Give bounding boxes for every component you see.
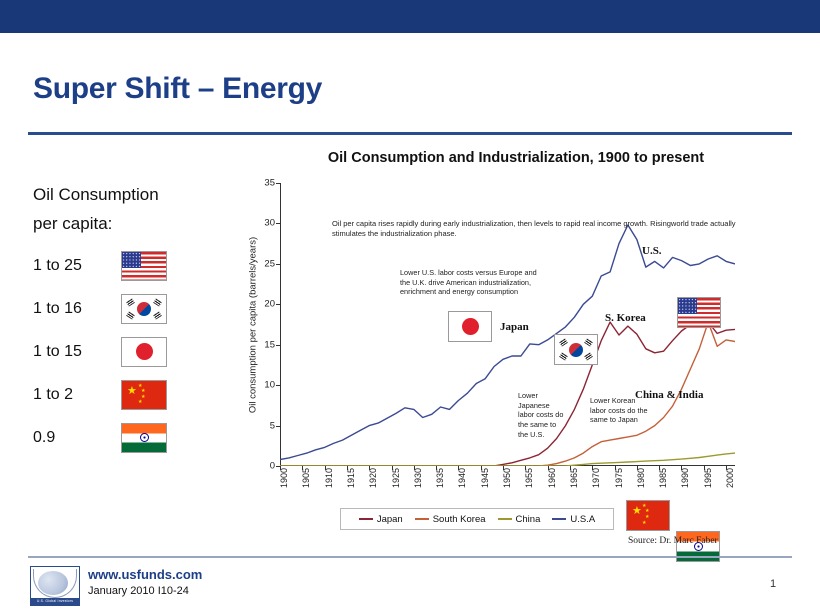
x-tick-mark [681, 466, 682, 470]
x-tick-mark [704, 466, 705, 470]
chart-legend: Japan South Korea China U.S.A [340, 508, 614, 530]
x-tick-label: 1995 [703, 468, 713, 488]
y-tick-label: 0 [270, 461, 275, 472]
x-tick-mark [302, 466, 303, 470]
legend-swatch-usa [552, 518, 566, 521]
callout-label-skorea: S. Korea [605, 312, 646, 324]
india-flag-icon [121, 423, 167, 453]
skorea-callout-flag-icon [554, 334, 598, 365]
x-tick-mark [637, 466, 638, 470]
us-flag-icon [121, 251, 167, 281]
annotation-intro: Oil per capita rises rapidly during earl… [332, 219, 752, 239]
y-tick-label: 35 [264, 178, 275, 189]
list-heading-line1: Oil Consumption [33, 180, 223, 209]
x-tick-label: 1985 [658, 468, 668, 488]
x-tick-mark [570, 466, 571, 470]
ratio-value-china: 1 to 2 [33, 386, 121, 404]
footer-website-link[interactable]: www.usfunds.com [88, 567, 202, 582]
chart-title: Oil Consumption and Industrialization, 1… [236, 150, 796, 166]
page-title: Super Shift – Energy [33, 72, 322, 106]
x-tick-mark [525, 466, 526, 470]
y-tick-label: 30 [264, 218, 275, 229]
x-tick-mark [392, 466, 393, 470]
list-item: 1 to 25 [33, 244, 223, 287]
china-callout-flag-icon: ★ ★ ★ ★ ★ [626, 500, 670, 531]
legend-item-usa[interactable]: U.S.A [552, 514, 595, 525]
top-band [0, 0, 820, 33]
y-tick-label: 10 [264, 380, 275, 391]
us-callout-flag-icon [677, 297, 721, 328]
legend-label-china: China [516, 514, 541, 525]
x-tick-label: 1905 [301, 468, 311, 488]
y-axis-label: Oil consumption per capita (barrels/year… [246, 183, 260, 466]
x-tick-label: 1955 [524, 468, 534, 488]
callout-label-china-india: China & India [635, 389, 703, 401]
china-flag-icon: ★ ★ ★ ★ ★ [121, 380, 167, 410]
x-tick-label: 1970 [591, 468, 601, 488]
series-line-u-s-a [280, 225, 735, 460]
list-item: 1 to 2 ★ ★ ★ ★ ★ [33, 373, 223, 416]
x-tick-mark [481, 466, 482, 470]
y-tick-label: 5 [270, 420, 275, 431]
south-korea-flag-icon [121, 294, 167, 324]
x-tick-label: 1940 [457, 468, 467, 488]
x-tick-label: 1925 [391, 468, 401, 488]
x-tick-label: 1900 [279, 468, 289, 488]
x-tick-mark [615, 466, 616, 470]
list-item: 1 to 16 [33, 287, 223, 330]
japan-callout-flag-icon [448, 311, 492, 342]
x-tick-label: 1975 [614, 468, 624, 488]
x-tick-label: 1920 [368, 468, 378, 488]
x-tick-label: 2000 [725, 468, 735, 488]
ratio-value-us: 1 to 25 [33, 257, 121, 275]
x-tick-mark [458, 466, 459, 470]
x-tick-mark [726, 466, 727, 470]
ratio-value-south-korea: 1 to 16 [33, 300, 121, 318]
x-tick-label: 1960 [547, 468, 557, 488]
legend-label-south-korea: South Korea [433, 514, 486, 525]
callout-label-japan: Japan [500, 321, 529, 333]
x-tick-label: 1980 [636, 468, 646, 488]
x-tick-label: 1965 [569, 468, 579, 488]
x-tick-label: 1935 [435, 468, 445, 488]
x-tick-label: 1990 [680, 468, 690, 488]
slide-canvas: Super Shift – Energy Oil Consumption per… [0, 0, 820, 615]
legend-swatch-japan [359, 518, 373, 521]
page-number: 1 [770, 578, 776, 590]
x-tick-mark [592, 466, 593, 470]
x-tick-label: 1945 [480, 468, 490, 488]
list-item: 1 to 15 [33, 330, 223, 373]
legend-swatch-south-korea [415, 518, 429, 521]
y-tick-label: 15 [264, 339, 275, 350]
title-divider [28, 132, 792, 135]
list-item: 0.9 [33, 416, 223, 459]
x-tick-mark [347, 466, 348, 470]
x-tick-mark [325, 466, 326, 470]
legend-label-japan: Japan [377, 514, 403, 525]
oil-consumption-list: Oil Consumption per capita: 1 to 25 1 to… [33, 180, 223, 459]
x-tick-mark [369, 466, 370, 470]
x-tick-label: 1930 [413, 468, 423, 488]
ratio-value-india: 0.9 [33, 429, 121, 447]
y-tick-label: 20 [264, 299, 275, 310]
x-tick-mark [436, 466, 437, 470]
us-global-investors-logo: U.S. Global Investors [30, 566, 80, 606]
legend-item-japan[interactable]: Japan [359, 514, 403, 525]
x-tick-label: 1950 [502, 468, 512, 488]
x-tick-label: 1910 [324, 468, 334, 488]
japan-flag-icon [121, 337, 167, 367]
chart-panel: Oil Consumption and Industrialization, 1… [236, 150, 796, 545]
x-tick-mark [414, 466, 415, 470]
x-tick-label: 1915 [346, 468, 356, 488]
x-tick-mark [280, 466, 281, 470]
annotation-japan-labor: Lower Japanese labor costs do the same t… [518, 391, 566, 439]
annotation-us-labor: Lower U.S. labor costs versus Europe and… [400, 268, 540, 297]
legend-label-usa: U.S.A [570, 514, 595, 525]
footer-divider [28, 556, 792, 558]
list-heading-line2: per capita: [33, 209, 223, 238]
plot-area: Oil consumption per capita (barrels/year… [280, 183, 735, 466]
logo-text: U.S. Global Investors [31, 598, 79, 605]
footer-date: January 2010 I10-24 [88, 585, 189, 597]
legend-item-south-korea[interactable]: South Korea [415, 514, 486, 525]
x-tick-mark [659, 466, 660, 470]
y-tick-label: 25 [264, 258, 275, 269]
legend-swatch-china [498, 518, 512, 521]
legend-item-china[interactable]: China [498, 514, 541, 525]
x-tick-mark [548, 466, 549, 470]
ratio-value-japan: 1 to 15 [33, 343, 121, 361]
callout-label-us: U.S. [642, 245, 662, 257]
chart-source: Source: Dr. Marc Faber [628, 536, 718, 546]
x-tick-mark [503, 466, 504, 470]
